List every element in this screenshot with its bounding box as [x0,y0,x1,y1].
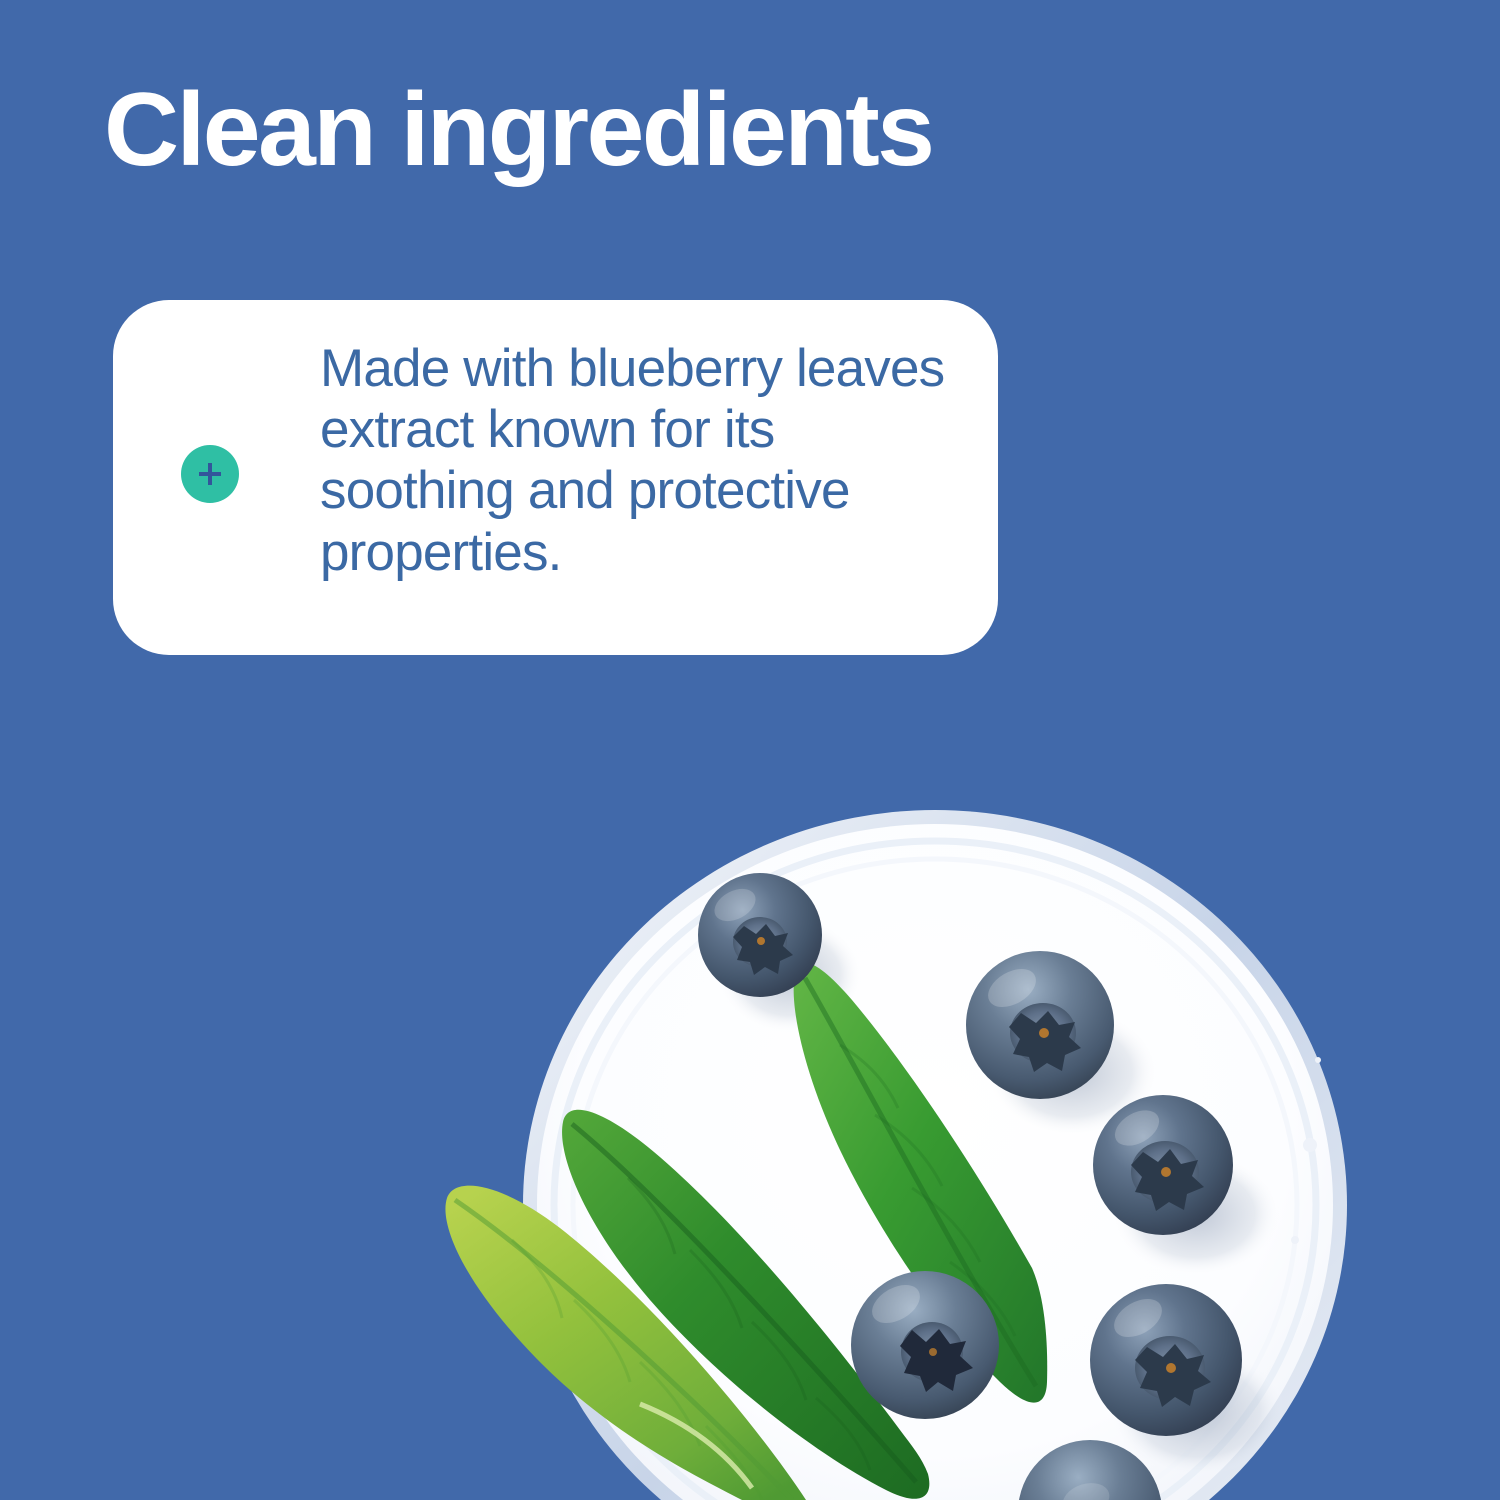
blueberry [966,951,1114,1099]
blueberry [698,873,822,997]
blueberry [851,1271,999,1419]
promo-graphic: Clean ingredients Made with blueberry le… [0,0,1500,1500]
ingredient-photo [0,760,1500,1500]
benefit-text: Made with blueberry leaves extract known… [320,338,960,583]
plus-icon [181,445,239,503]
blueberry [1090,1284,1242,1436]
blueberry [1093,1095,1233,1235]
page-title: Clean ingredients [104,74,932,186]
